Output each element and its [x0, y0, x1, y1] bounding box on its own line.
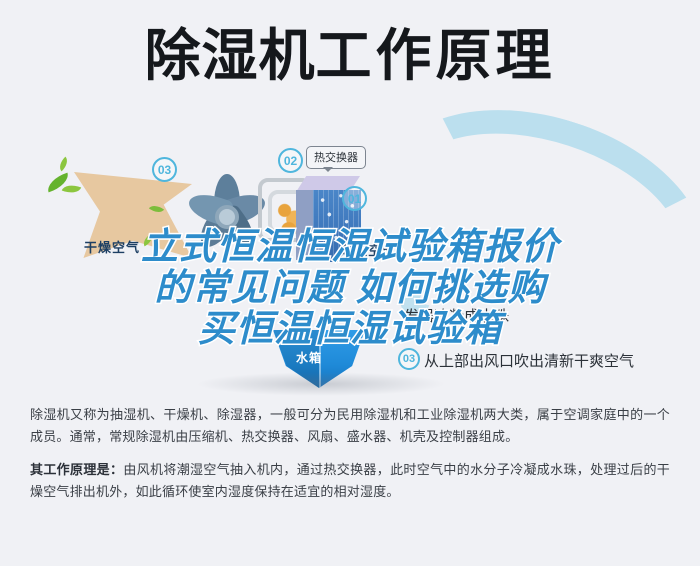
- paragraph-2-rest: 由风机将潮湿空气抽入机内，通过热交换器，此时空气中的水分子冷凝成水珠，处理过后的…: [30, 462, 670, 499]
- overlay-headline-line-3: 买恒温恒湿试验箱: [0, 308, 700, 349]
- page-title: 除湿机工作原理: [0, 28, 700, 84]
- page-root: 除湿机工作原理 干燥空气 热交换器 03 02 01 潮湿空气: [0, 0, 700, 566]
- overlay-headline-line-1: 立式恒温恒湿试验箱报价: [0, 226, 700, 267]
- page-title-part2: 工作原理: [316, 24, 556, 87]
- page-title-part1: 除湿机: [145, 24, 316, 87]
- paragraph-1: 除湿机又称为抽湿机、干燥机、除湿器，一般可分为民用除湿机和工业除湿机两大类，属于…: [30, 404, 670, 448]
- leaf-icon: [56, 157, 71, 172]
- step-badge-01: 01: [342, 186, 367, 211]
- article-body: 除湿机又称为抽湿机、干燥机、除湿器，一般可分为民用除湿机和工业除湿机两大类，属于…: [0, 404, 700, 514]
- step-badge-03: 03: [152, 157, 177, 182]
- hero-diagram-image: 除湿机工作原理 干燥空气 热交换器 03 02 01 潮湿空气: [0, 0, 700, 400]
- paragraph-2-lead: 其工作原理是：: [30, 462, 123, 477]
- water-tank-label: 水箱: [296, 349, 322, 366]
- leaf-icon: [62, 181, 82, 197]
- overlay-headline-line-2: 的常见问题 如何挑选购: [0, 267, 700, 308]
- step-text-03: 从上部出风口吹出清新干爽空气: [424, 350, 634, 371]
- water-tank-shadow: [196, 372, 446, 396]
- overlay-headline: 立式恒温恒湿试验箱报价 的常见问题 如何挑选购 买恒温恒湿试验箱: [0, 226, 700, 349]
- step-badge-02: 02: [278, 148, 303, 173]
- step-badge-03-bottom: 03: [398, 348, 420, 370]
- paragraph-2: 其工作原理是：由风机将潮湿空气抽入机内，通过热交换器，此时空气中的水分子冷凝成水…: [30, 459, 670, 503]
- heat-exchanger-callout: 热交换器: [306, 146, 366, 169]
